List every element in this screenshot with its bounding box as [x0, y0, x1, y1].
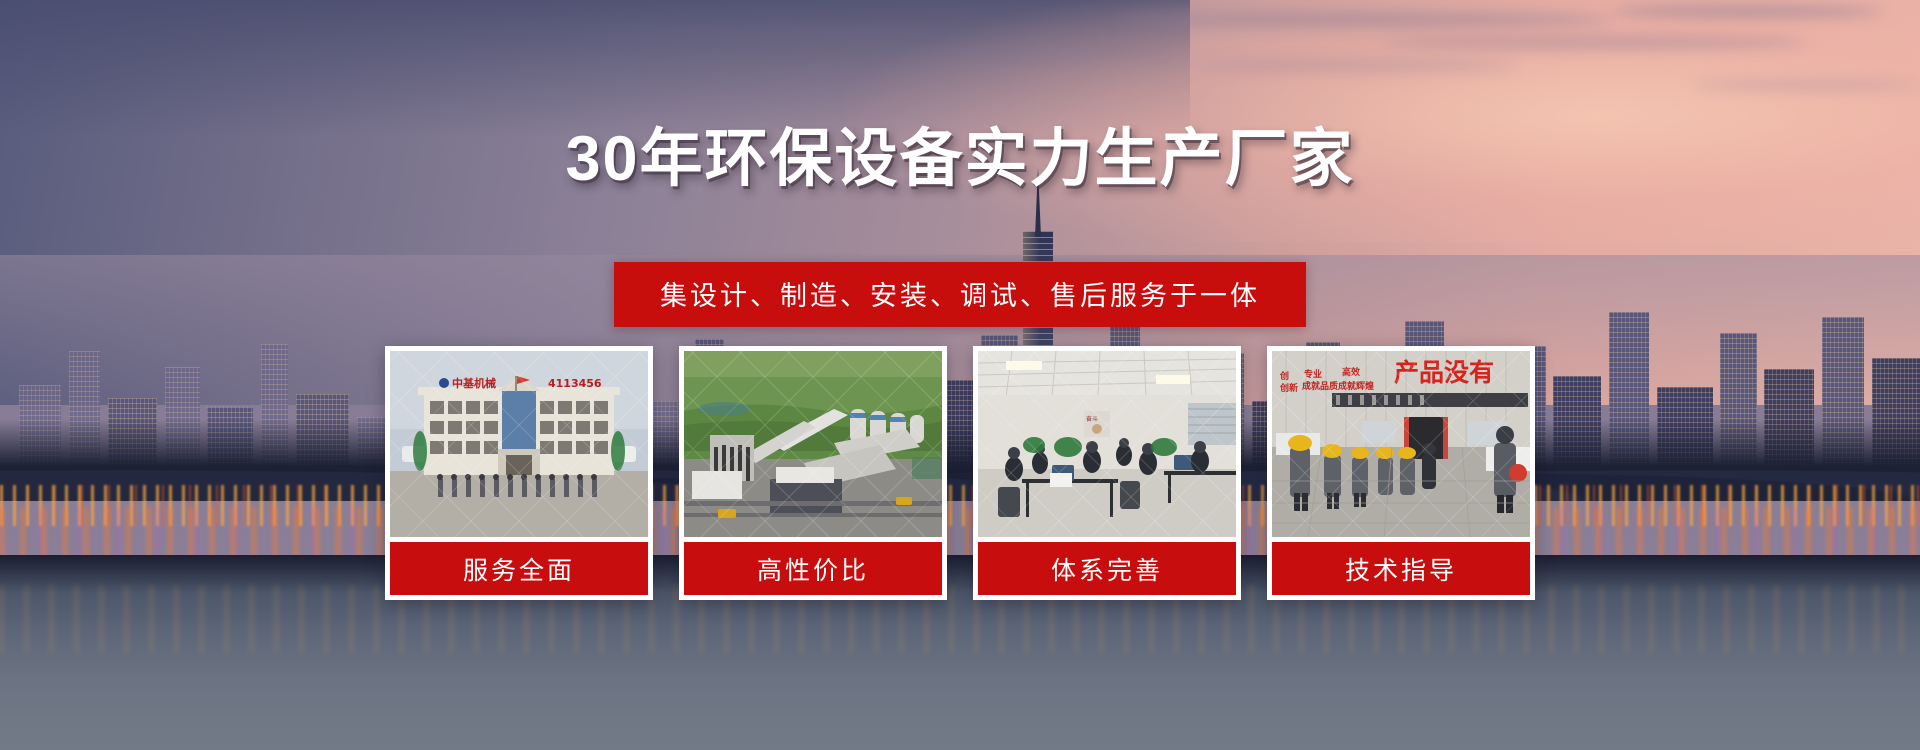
svg-text:中基机械: 中基机械: [452, 376, 496, 390]
feature-card[interactable]: 产品没有 创专业高效 创新成就品质成就辉煌: [1267, 346, 1535, 600]
sunset-glow: [845, 0, 1920, 243]
cloud-streak: [1613, 6, 1882, 17]
feature-card[interactable]: 奋斗: [973, 346, 1241, 600]
cloud-streak: [1190, 61, 1516, 71]
feature-card[interactable]: 中基机械 4113456 服务全面: [385, 346, 653, 600]
svg-text:高效: 高效: [1342, 366, 1361, 378]
svg-text:专业: 专业: [1304, 368, 1322, 380]
thumbnail-office-interior[interactable]: 奋斗: [978, 351, 1236, 537]
page-title: 30年环保设备实力生产厂家: [0, 128, 1920, 191]
cloud-streak: [1114, 12, 1613, 27]
cloud-streak: [883, 49, 1171, 57]
cloud-streak: [1382, 36, 1804, 48]
svg-text:成就品质: 成就品质: [1302, 380, 1338, 392]
thumbnail-company-building[interactable]: 中基机械 4113456: [390, 351, 648, 537]
thumbnail-industrial-plant[interactable]: [684, 351, 942, 537]
svg-text:产品没有: 产品没有: [1394, 358, 1494, 387]
cloud-streak: [1690, 81, 1920, 89]
svg-text:成就辉煌: 成就辉煌: [1338, 380, 1374, 392]
thumbnail-workers-factory[interactable]: 产品没有 创专业高效 创新成就品质成就辉煌: [1272, 351, 1530, 537]
card-caption: 服务全面: [390, 542, 648, 595]
card-caption: 高性价比: [684, 542, 942, 595]
sky-upper-shade: [0, 0, 1190, 138]
card-caption: 体系完善: [978, 542, 1236, 595]
cloud-streak: [576, 28, 960, 38]
svg-text:4113456: 4113456: [548, 377, 602, 390]
svg-text:创新: 创新: [1279, 382, 1298, 394]
hero-banner: 30年环保设备实力生产厂家 集设计、制造、安装、调试、售后服务于一体: [0, 0, 1920, 750]
card-caption: 技术指导: [1272, 542, 1530, 595]
svg-text:创: 创: [1279, 370, 1289, 382]
feature-card[interactable]: 高性价比: [679, 346, 947, 600]
svg-text:奋斗: 奋斗: [1086, 415, 1098, 423]
subtitle-banner: 集设计、制造、安装、调试、售后服务于一体: [614, 262, 1306, 327]
feature-cards: 中基机械 4113456 服务全面: [385, 346, 1535, 600]
